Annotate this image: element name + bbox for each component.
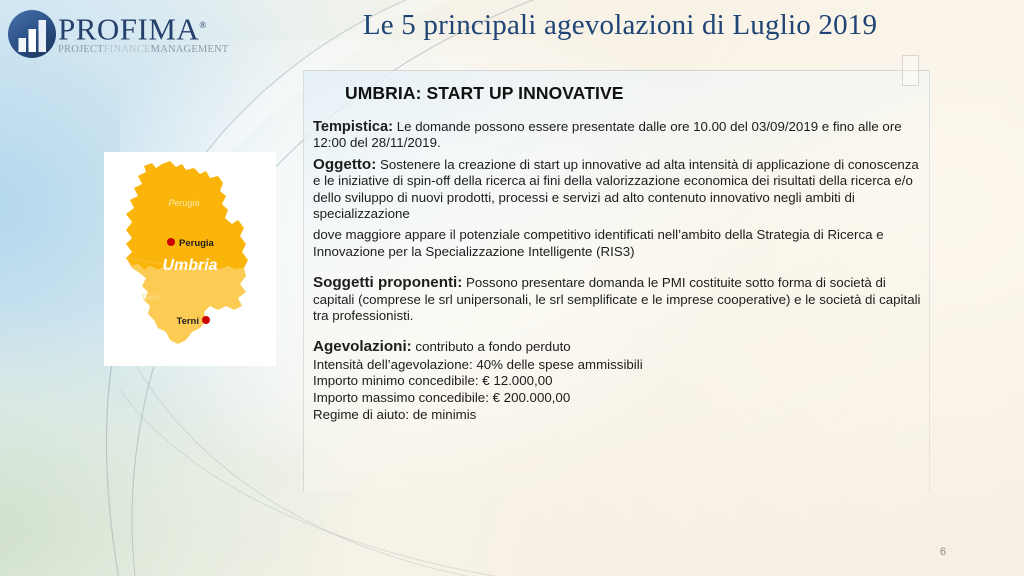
section-label-agevolazioni: Agevolazioni:	[313, 338, 412, 355]
umbria-map-card: Perugia Terni Umbria Perugia Terni	[104, 152, 276, 366]
map-province-label-terni: Terni	[141, 292, 161, 302]
page-title: Le 5 principali agevolazioni di Luglio 2…	[300, 9, 940, 42]
map-city-dot-perugia	[167, 238, 175, 246]
section-text-tempistica: Le domande possono essere presentate dal…	[313, 119, 902, 150]
agevolazioni-line-intensita: Intensità dell’agevolazione: 40% delle s…	[313, 357, 931, 374]
map-city-label-terni: Terni	[176, 316, 199, 327]
umbria-map: Perugia Terni Umbria Perugia Terni	[110, 158, 270, 360]
map-province-label-perugia: Perugia	[168, 198, 199, 208]
slide-root: PROFIMA® PROJECTFINANCEMANAGEMENT Le 5 p…	[0, 0, 1024, 576]
map-city-dot-terni	[202, 316, 210, 324]
agevolazioni-line-importo-massimo: Importo massimo concedibile: € 200.000,0…	[313, 390, 931, 407]
page-number: 6	[940, 546, 946, 558]
agevolazioni-line-importo-minimo: Importo minimo concedibile: € 12.000,00	[313, 373, 931, 390]
panel-heading: UMBRIA: START UP INNOVATIVE	[345, 83, 931, 104]
map-region-label: Umbria	[162, 257, 217, 274]
brand-name: PROFIMA®	[58, 8, 218, 46]
section-soggetti-proponenti: Soggetti proponenti: Possono presentare …	[313, 275, 925, 324]
section-label-oggetto: Oggetto:	[313, 156, 376, 173]
agevolazioni-line-regime: Regime di aiuto: de minimis	[313, 407, 931, 424]
section-tempistica: Tempistica: Le domande possono essere pr…	[313, 119, 925, 152]
section-text-oggetto: Sostenere la creazione di start up innov…	[313, 157, 919, 221]
bar-chart-circle-icon	[6, 8, 58, 60]
section-text-agevolazioni: contributo a fondo perduto	[412, 339, 571, 354]
section-agevolazioni: Agevolazioni: contributo a fondo perduto	[313, 339, 925, 355]
agevolazioni-detail-lines: Intensità dell’agevolazione: 40% delle s…	[313, 357, 931, 423]
section-label-tempistica: Tempistica:	[313, 119, 393, 135]
panel-content: UMBRIA: START UP INNOVATIVE Tempistica: …	[313, 74, 931, 423]
section-oggetto-extra: dove maggiore appare il potenziale compe…	[313, 227, 925, 260]
registered-mark: ®	[199, 20, 206, 30]
brand-logo: PROFIMA® PROJECTFINANCEMANAGEMENT	[6, 6, 216, 64]
map-city-label-perugia: Perugia	[179, 238, 215, 249]
section-oggetto: Oggetto: Sostenere la creazione di start…	[313, 157, 925, 223]
brand-tagline: PROJECTFINANCEMANAGEMENT	[58, 44, 218, 56]
section-label-soggetti: Soggetti proponenti:	[313, 274, 462, 291]
